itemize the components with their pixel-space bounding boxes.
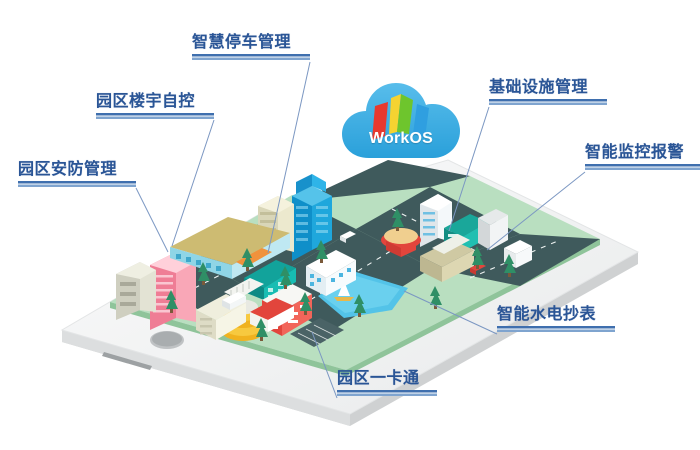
cloud-icon — [339, 74, 463, 166]
leader-one-card — [312, 332, 337, 398]
callout-campus-security-label: 园区安防管理 — [18, 160, 136, 179]
callout-smart-metering-label: 智能水电抄表 — [497, 305, 615, 324]
callout-campus-one-card-label: 园区一卡通 — [337, 369, 437, 388]
callout-underline — [192, 54, 310, 60]
workos-cloud-logo[interactable]: WorkOS — [339, 74, 463, 166]
leader-campus-security — [136, 188, 168, 252]
callout-underline — [337, 390, 437, 396]
callout-underline — [96, 113, 214, 119]
callout-campus-security[interactable]: 园区安防管理 — [18, 160, 136, 187]
leader-building-automation — [172, 120, 214, 246]
leader-smart-parking — [268, 62, 310, 253]
infographic-canvas: WorkOS 智慧停车管理 园区楼宇自控 园区安防管理 基础设施管理 智能监控报… — [0, 0, 700, 450]
callout-underline — [489, 99, 607, 105]
workos-wordmark: WorkOS — [339, 130, 463, 148]
callout-infrastructure-mgmt-label: 基础设施管理 — [489, 78, 607, 97]
callout-smart-metering[interactable]: 智能水电抄表 — [497, 305, 615, 332]
callout-smart-surveillance-label: 智能监控报警 — [585, 143, 700, 162]
callout-infrastructure-mgmt[interactable]: 基础设施管理 — [489, 78, 607, 105]
callout-underline — [497, 326, 615, 332]
leader-surveillance — [487, 172, 585, 250]
callout-smart-surveillance[interactable]: 智能监控报警 — [585, 143, 700, 170]
callout-smart-parking[interactable]: 智慧停车管理 — [192, 33, 310, 60]
callout-smart-parking-label: 智慧停车管理 — [192, 33, 310, 52]
leader-metering — [404, 291, 497, 334]
callout-building-automation-label: 园区楼宇自控 — [96, 92, 214, 111]
callout-underline — [18, 181, 136, 187]
callout-building-automation[interactable]: 园区楼宇自控 — [96, 92, 214, 119]
callout-underline — [585, 164, 700, 170]
callout-campus-one-card[interactable]: 园区一卡通 — [337, 369, 437, 396]
